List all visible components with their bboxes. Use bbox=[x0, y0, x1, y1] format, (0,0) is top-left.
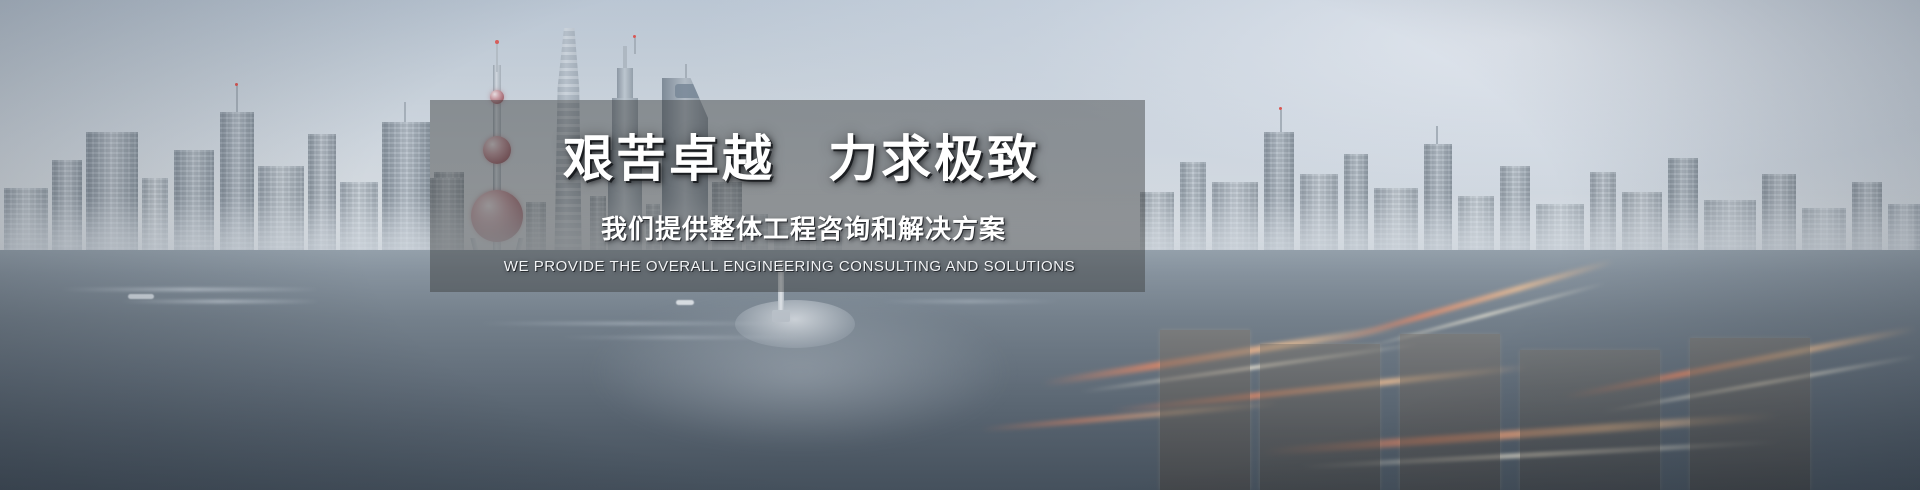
page-title: 艰苦卓越 力求极致 bbox=[563, 134, 1040, 184]
subtitle-english: WE PROVIDE THE OVERALL ENGINEERING CONSU… bbox=[504, 259, 1075, 274]
hero-banner: 艰苦卓越 力求极致 我们提供整体工程咨询和解决方案 WE PROVIDE THE… bbox=[0, 0, 1920, 490]
subtitle-chinese: 我们提供整体工程咨询和解决方案 bbox=[601, 216, 1006, 242]
hero-text-overlay: 艰苦卓越 力求极致 我们提供整体工程咨询和解决方案 WE PROVIDE THE… bbox=[430, 100, 1145, 292]
